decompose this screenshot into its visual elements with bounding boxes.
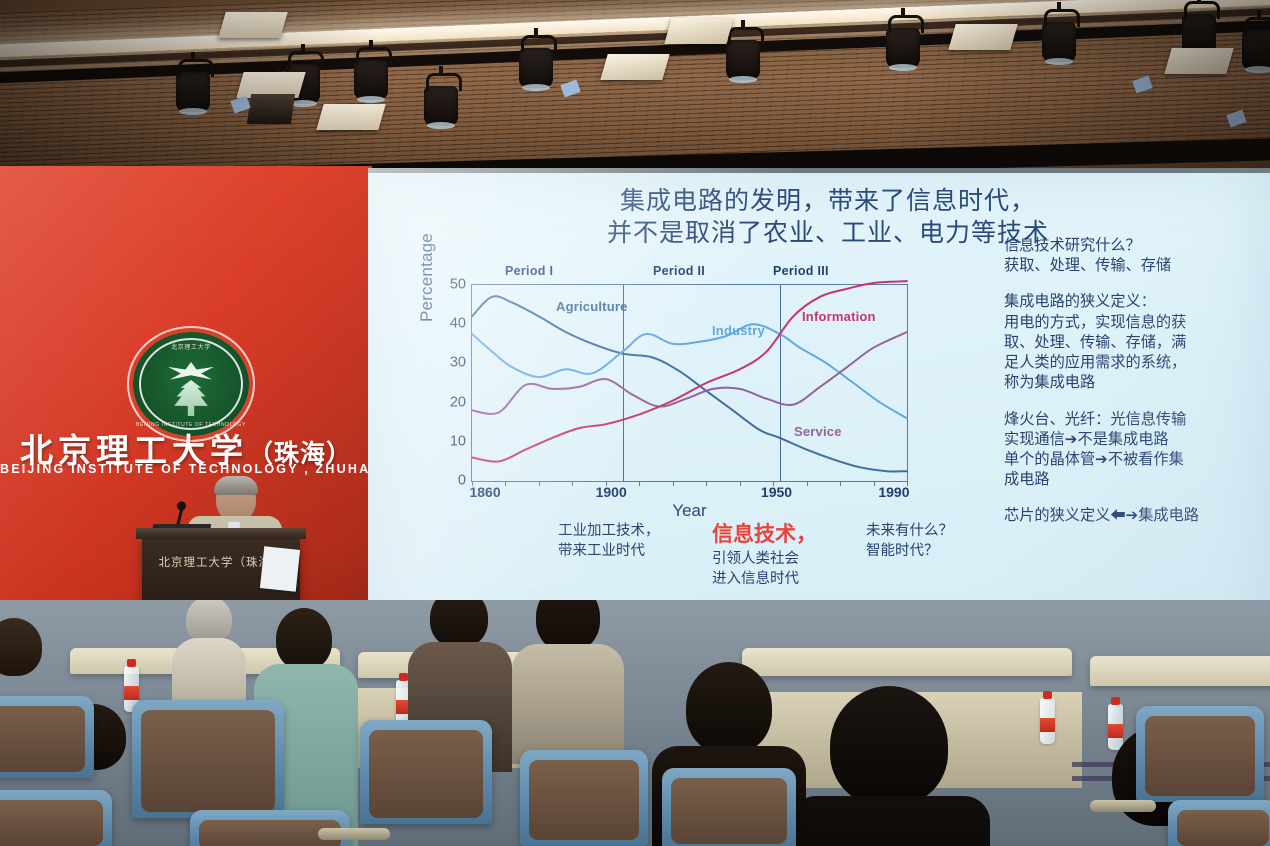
- slide-note: 烽火台、光纤：光信息传输 实现通信➔不是集成电路 单个的晶体管➔不被看作集 成电…: [1004, 410, 1270, 491]
- person-head: [830, 686, 948, 806]
- audience-seat: [0, 696, 94, 778]
- person-body: [512, 644, 624, 764]
- water-bottle: [1108, 704, 1123, 750]
- person-head: [276, 608, 332, 670]
- chart-period-label: Period I: [505, 264, 553, 278]
- chart-y-tick: 20: [450, 394, 466, 410]
- chart-period-label: Period II: [653, 264, 705, 278]
- chart-y-tick: 50: [450, 277, 466, 293]
- chart-x-minor-tick: [673, 481, 674, 486]
- chart-y-axis-label: Percentage: [417, 233, 437, 322]
- person-body: [172, 638, 246, 708]
- speaker-papers: [260, 546, 300, 592]
- audience-seat: [132, 700, 284, 818]
- person-head: [686, 662, 772, 754]
- chart-series-label-information: Information: [802, 309, 876, 324]
- seat-armrest: [318, 828, 390, 840]
- lecture-hall-photo: 北京理工大学 BEIJING INSTITUTE OF TECHNOLOGY 北…: [0, 0, 1270, 846]
- chart-period-label: Period III: [773, 264, 829, 278]
- audience-seat: [520, 750, 648, 846]
- chart-x-minor-tick: [840, 481, 841, 486]
- audience-seat: [662, 768, 796, 846]
- slide-notes-column: 信息技术研究什么？ 获取、处理、传输、存储 集成电路的狭义定义： 用电的方式，实…: [1004, 236, 1270, 543]
- slide-title-line1: 集成电路的发明，带来了信息时代，: [518, 186, 1138, 218]
- chart-x-minor-tick: [539, 481, 540, 486]
- chart-x-minor-tick: [874, 481, 875, 486]
- audience-seat: [360, 720, 492, 824]
- chart-series-label-service: Service: [794, 424, 842, 439]
- chart-x-tick: 1990: [878, 484, 909, 500]
- workforce-composition-chart: Period I Period II Period III Percentage…: [423, 264, 923, 514]
- caption-information-sub: 引领人类社会 进入信息时代: [712, 550, 799, 589]
- chart-x-tick: 1950: [761, 484, 792, 500]
- audience-area: [0, 600, 1270, 846]
- speaker-hair: [214, 476, 258, 495]
- caption-future: 未来有什么？ 智能时代？: [866, 522, 953, 561]
- ceiling: [0, 0, 1270, 172]
- desk-row: [742, 648, 1072, 676]
- chart-x-minor-tick: [639, 481, 640, 486]
- emblem-arc-top-text: 北京理工大学: [133, 342, 249, 351]
- chart-series-label-industry: Industry: [712, 323, 765, 338]
- chart-x-tick: 1860: [469, 484, 500, 500]
- chart-x-minor-tick: [907, 481, 908, 486]
- chart-x-axis-label: Year: [672, 501, 706, 521]
- university-emblem-icon: 北京理工大学 BEIJING INSTITUTE OF TECHNOLOGY: [133, 332, 249, 436]
- podium-top: [136, 528, 306, 539]
- chart-x-minor-tick: [740, 481, 741, 486]
- chart-period-headers: Period I Period II Period III: [423, 264, 923, 282]
- chart-x-minor-tick: [505, 481, 506, 486]
- seat-armrest: [1090, 800, 1156, 812]
- caption-information-highlight: 信息技术，: [712, 518, 817, 548]
- slide-note: 信息技术研究什么？ 获取、处理、传输、存储: [1004, 236, 1270, 276]
- chart-x-minor-tick: [606, 481, 607, 486]
- water-bottle: [1040, 698, 1055, 744]
- projection-screen: 集成电路的发明，带来了信息时代， 并不是取消了农业、工业、电力等技术 信息技术研…: [368, 168, 1270, 648]
- audience-seat: [0, 790, 112, 846]
- slide-note: 集成电路的狭义定义： 用电的方式，实现信息的获 取、处理、传输、存储，满 足人类…: [1004, 292, 1270, 393]
- chart-plot-area: 50 40 30 20 10 0 Agriculture Industry Se…: [471, 284, 908, 482]
- chart-x-minor-tick: [807, 481, 808, 486]
- chart-x-tick: 1900: [596, 484, 627, 500]
- university-name-en: BEIJING INSTITUTE OF TECHNOLOGY , ZHUHAI: [0, 462, 366, 476]
- caption-industrial: 工业加工技术， 带来工业时代: [558, 522, 660, 561]
- screen-top-edge: [368, 168, 1270, 173]
- audience-seat: [1136, 706, 1264, 802]
- chart-y-tick: 0: [458, 473, 466, 489]
- person-body: [790, 796, 990, 846]
- chart-y-tick: 10: [450, 433, 466, 449]
- chart-x-minor-tick: [472, 481, 473, 486]
- chart-series-label-agriculture: Agriculture: [556, 299, 628, 314]
- chart-x-minor-tick: [773, 481, 774, 486]
- audience-seat: [1168, 800, 1270, 846]
- slide-note: 芯片的狭义定义⬅➔集成电路: [1004, 506, 1270, 526]
- chart-x-minor-tick: [572, 481, 573, 486]
- person-head: [0, 618, 42, 676]
- person-head: [430, 600, 488, 648]
- chart-y-tick: 30: [450, 355, 466, 371]
- chart-y-tick: 40: [450, 316, 466, 332]
- desk-row: [1090, 656, 1270, 686]
- chart-x-minor-tick: [706, 481, 707, 486]
